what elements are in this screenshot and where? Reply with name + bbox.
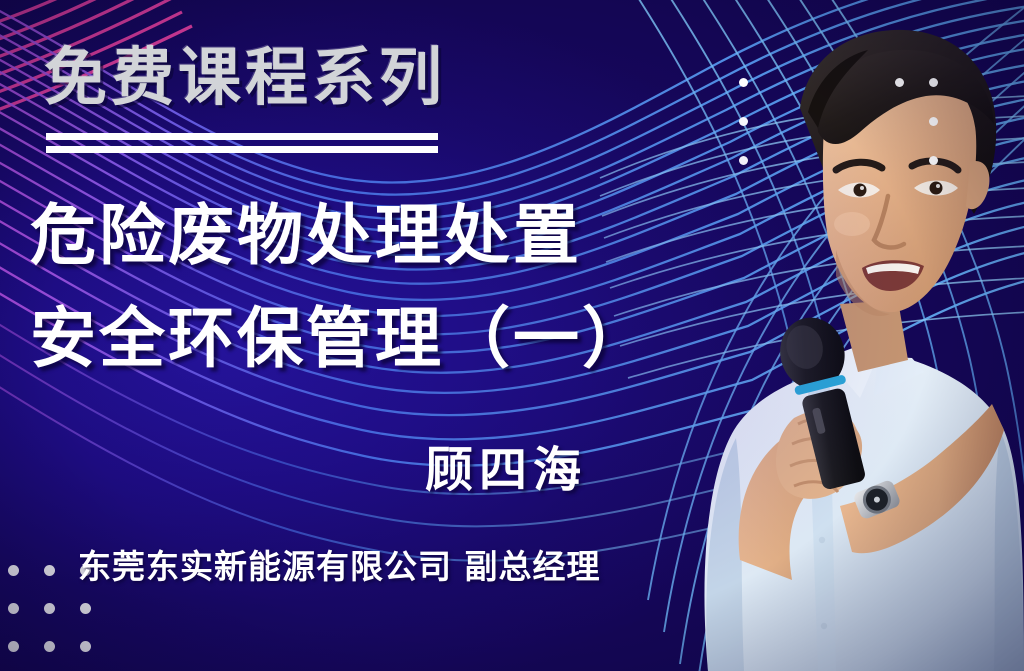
speaker-affiliation: 东莞东实新能源有限公司 副总经理 — [78, 540, 601, 588]
speaker-name: 顾四海 — [425, 430, 587, 500]
page-title-line2: 安全环保管理（一） — [30, 303, 651, 374]
course-poster: 免费课程系列 危险废物处理处置 安全环保管理（一） 顾四海 东莞东实新能源有限公… — [0, 0, 1024, 671]
heading-rule-top — [46, 133, 438, 140]
kicker-heading: 免费课程系列 — [44, 46, 446, 109]
page-title-line1: 危险废物处理处置 — [30, 200, 582, 271]
heading-rule-bottom — [46, 146, 438, 153]
